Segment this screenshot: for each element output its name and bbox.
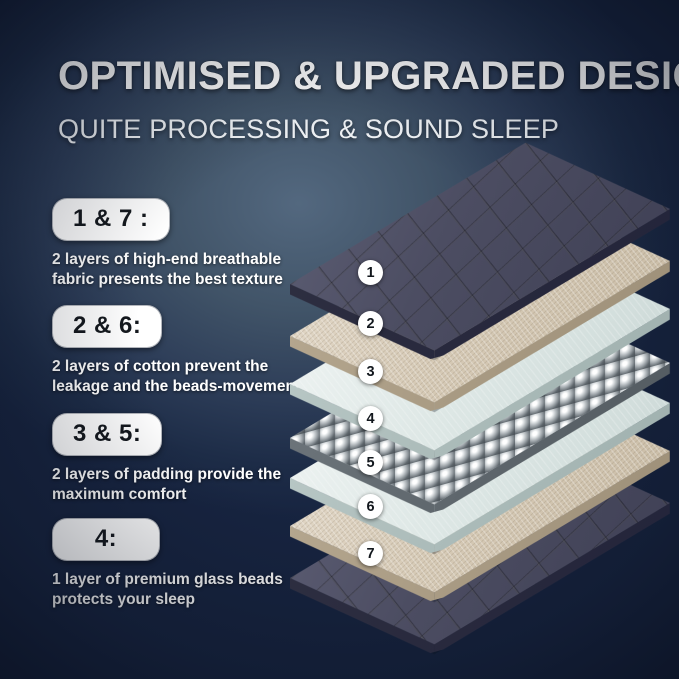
callout-4: 4: 1 layer of premium glass beads protec… <box>52 518 317 611</box>
layer-badge-2: 2 <box>358 311 383 336</box>
callout-label-2-and-6: 2 & 6: <box>52 305 162 348</box>
callout-3-and-5: 3 & 5: 2 layers of padding provide the m… <box>52 413 317 506</box>
layer-badge-3: 3 <box>358 359 383 384</box>
layer-badge-7: 7 <box>358 541 383 566</box>
callout-label-1-and-7: 1 & 7 : <box>52 198 170 241</box>
page-title: OPTIMISED & UPGRADED DESIGN <box>58 55 658 97</box>
callout-2-and-6: 2 & 6: 2 layers of cotton prevent the le… <box>52 305 317 398</box>
callout-label-4: 4: <box>52 518 160 561</box>
callout-1-and-7: 1 & 7 : 2 layers of high-end breathable … <box>52 198 317 291</box>
callout-description-2-and-6: 2 layers of cotton prevent the leakage a… <box>52 357 302 398</box>
callout-description-1-and-7: 2 layers of high-end breathable fabric p… <box>52 250 302 291</box>
layer-badge-4: 4 <box>358 406 383 431</box>
layer-badge-1: 1 <box>358 260 383 285</box>
callout-label-3-and-5: 3 & 5: <box>52 413 162 456</box>
exploded-layer-stack: 1 2 3 4 5 6 7 <box>300 150 679 670</box>
callout-description-3-and-5: 2 layers of padding provide the maximum … <box>52 465 302 506</box>
infographic-canvas: OPTIMISED & UPGRADED DESIGN QUITE PROCES… <box>0 0 679 679</box>
callout-description-4: 1 layer of premium glass beads protects … <box>52 570 302 611</box>
layer-badge-6: 6 <box>358 494 383 519</box>
layer-badge-5: 5 <box>358 450 383 475</box>
